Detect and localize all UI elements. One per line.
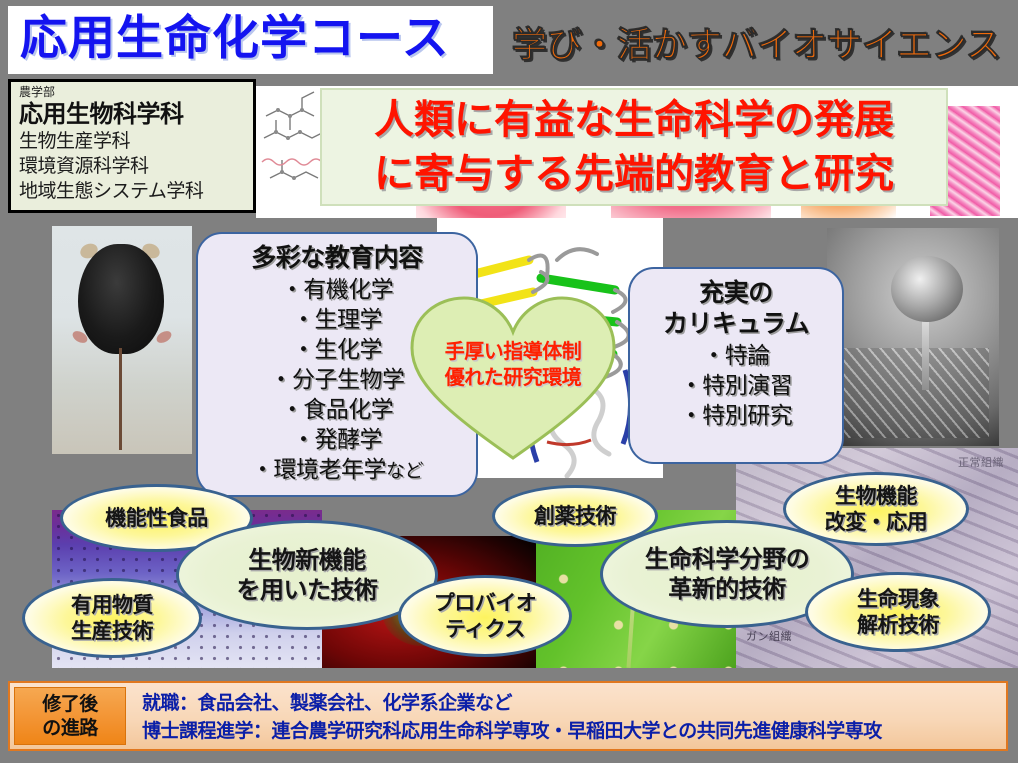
- bubble-kinou-line-2: 改変・応用: [825, 509, 928, 535]
- bubble-seibutsu-kinou: 生物機能 改変・応用: [783, 472, 969, 546]
- curriculum-heading-line-1: 充実の: [630, 277, 842, 308]
- curriculum-item-3: ・特別研究: [630, 401, 842, 431]
- poster-slide: 応用生命化学コース 学び・活かすバイオサイエンス 農学部 応用生物科学科 生物生…: [0, 0, 1018, 763]
- fungus-sem-image: [827, 228, 999, 446]
- curriculum-item-2: ・特別演習: [630, 371, 842, 401]
- mouse-foot-right: [155, 329, 174, 346]
- department-item-1: 生物生産学科: [19, 129, 247, 154]
- bubble-seimei-line-2: 革新的技術: [668, 574, 786, 604]
- career-label-box: 修了後 の進路: [14, 687, 126, 745]
- bubble-probiotics: プロバイオ ティクス: [398, 575, 572, 657]
- bubble-probiotics-line-1: プロバイオ: [434, 590, 537, 616]
- bubble-yuyou-line-1: 有用物質: [71, 592, 153, 618]
- faculty-label: 農学部: [19, 85, 247, 100]
- bubble-seibutsu-line-1: 生物新機能: [248, 545, 366, 575]
- curriculum-box: 充実の カリキュラム ・特論 ・特別演習 ・特別研究: [628, 267, 844, 464]
- curriculum-list: ・特論 ・特別演習 ・特別研究: [630, 341, 842, 431]
- mission-statement-line-1: 人類に有益な生命科学の発展: [374, 93, 894, 147]
- heart-callout: 手厚い指導体制 優れた研究環境: [408, 292, 618, 464]
- bubble-kinou-line-1: 生物機能: [835, 483, 917, 509]
- bubble-seimei-line-1: 生命科学分野の: [645, 544, 810, 574]
- bubble-gensho-line-1: 生命現象: [857, 586, 939, 612]
- title-plate: 応用生命化学コース: [8, 6, 493, 74]
- fungus-conidial-head: [891, 256, 963, 322]
- mouse-tail: [119, 348, 122, 450]
- bubble-yuyou-busshitsu: 有用物質 生産技術: [22, 578, 202, 658]
- career-line-doctoral: 博士課程進学：連合農学研究科応用生命科学専攻・早稲田大学との共同先進健康科学専攻: [142, 717, 1006, 745]
- education-item-7-text: ・環境老年学: [251, 457, 386, 483]
- career-line-employment: 就職：食品会社、製薬会社、化学系企業など: [142, 689, 1006, 717]
- heart-text: 手厚い指導体制 優れた研究環境: [408, 338, 618, 390]
- bubble-probiotics-line-2: ティクス: [445, 616, 525, 642]
- department-box: 農学部 応用生物科学科 生物生産学科 環境資源科学科 地域生態システム学科: [8, 79, 256, 213]
- heart-line-1: 手厚い指導体制: [408, 338, 618, 364]
- career-bar: 修了後 の進路 就職：食品会社、製薬会社、化学系企業など 博士課程進学：連合農学…: [8, 681, 1008, 751]
- bubble-yuyou-line-2: 生産技術: [71, 618, 153, 644]
- normal-tissue-caption: 正常組織: [958, 454, 1004, 470]
- mission-statement-line-2: に寄与する先端的教育と研究: [374, 147, 894, 201]
- bubble-gensho-line-2: 解析技術: [857, 612, 939, 638]
- bubble-seibutsu-line-2: を用いた技術: [237, 575, 378, 605]
- mouse-photo: [52, 226, 192, 454]
- education-content-heading: 多彩な教育内容: [198, 242, 476, 273]
- career-label-line-1: 修了後: [42, 692, 98, 716]
- page-title: 応用生命化学コース: [20, 8, 490, 70]
- cancer-tissue-caption: ガン組織: [746, 628, 792, 644]
- page-subtitle: 学び・活かすバイオサイエンス: [512, 17, 1001, 68]
- bubble-kinousei-line-1: 機能性食品: [105, 505, 208, 531]
- department-item-3: 地域生態システム学科: [19, 179, 247, 204]
- main-department-label: 応用生物科学科: [19, 100, 247, 129]
- curriculum-item-1: ・特論: [630, 341, 842, 371]
- fungus-hyphae: [837, 348, 989, 438]
- department-item-2: 環境資源科学科: [19, 154, 247, 179]
- career-label-line-2: の進路: [42, 716, 98, 740]
- bubble-souyaku-line-1: 創薬技術: [534, 503, 616, 529]
- bubble-seimei-gensho: 生命現象 解析技術: [805, 572, 991, 652]
- fungus-stalk: [922, 316, 929, 390]
- mouse-body: [78, 244, 164, 354]
- heart-line-2: 優れた研究環境: [408, 364, 618, 390]
- curriculum-heading-line-2: カリキュラム: [630, 308, 842, 339]
- mission-statement-box: 人類に有益な生命科学の発展 に寄与する先端的教育と研究: [320, 88, 948, 206]
- career-text-block: 就職：食品会社、製薬会社、化学系企業など 博士課程進学：連合農学研究科応用生命科…: [130, 683, 1006, 749]
